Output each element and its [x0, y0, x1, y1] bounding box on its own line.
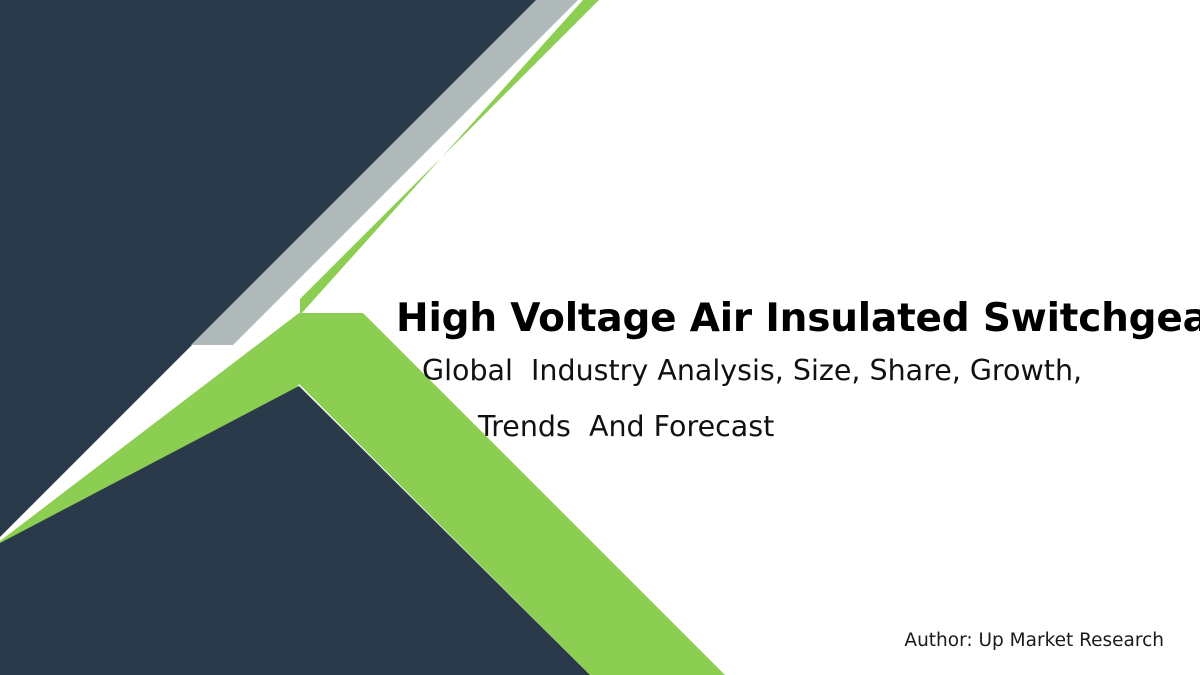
- page-title: High Voltage Air Insulated Switchgear: [396, 296, 1196, 342]
- subtitle-line-1: Global Industry Analysis, Size, Share, G…: [422, 352, 1082, 390]
- subtitle-line-2: Trends And Forecast: [478, 408, 774, 446]
- text-layer: High Voltage Air Insulated Switchgear Gl…: [0, 0, 1200, 675]
- report-cover: High Voltage Air Insulated Switchgear Gl…: [0, 0, 1200, 675]
- author-credit: Author: Up Market Research: [904, 629, 1164, 653]
